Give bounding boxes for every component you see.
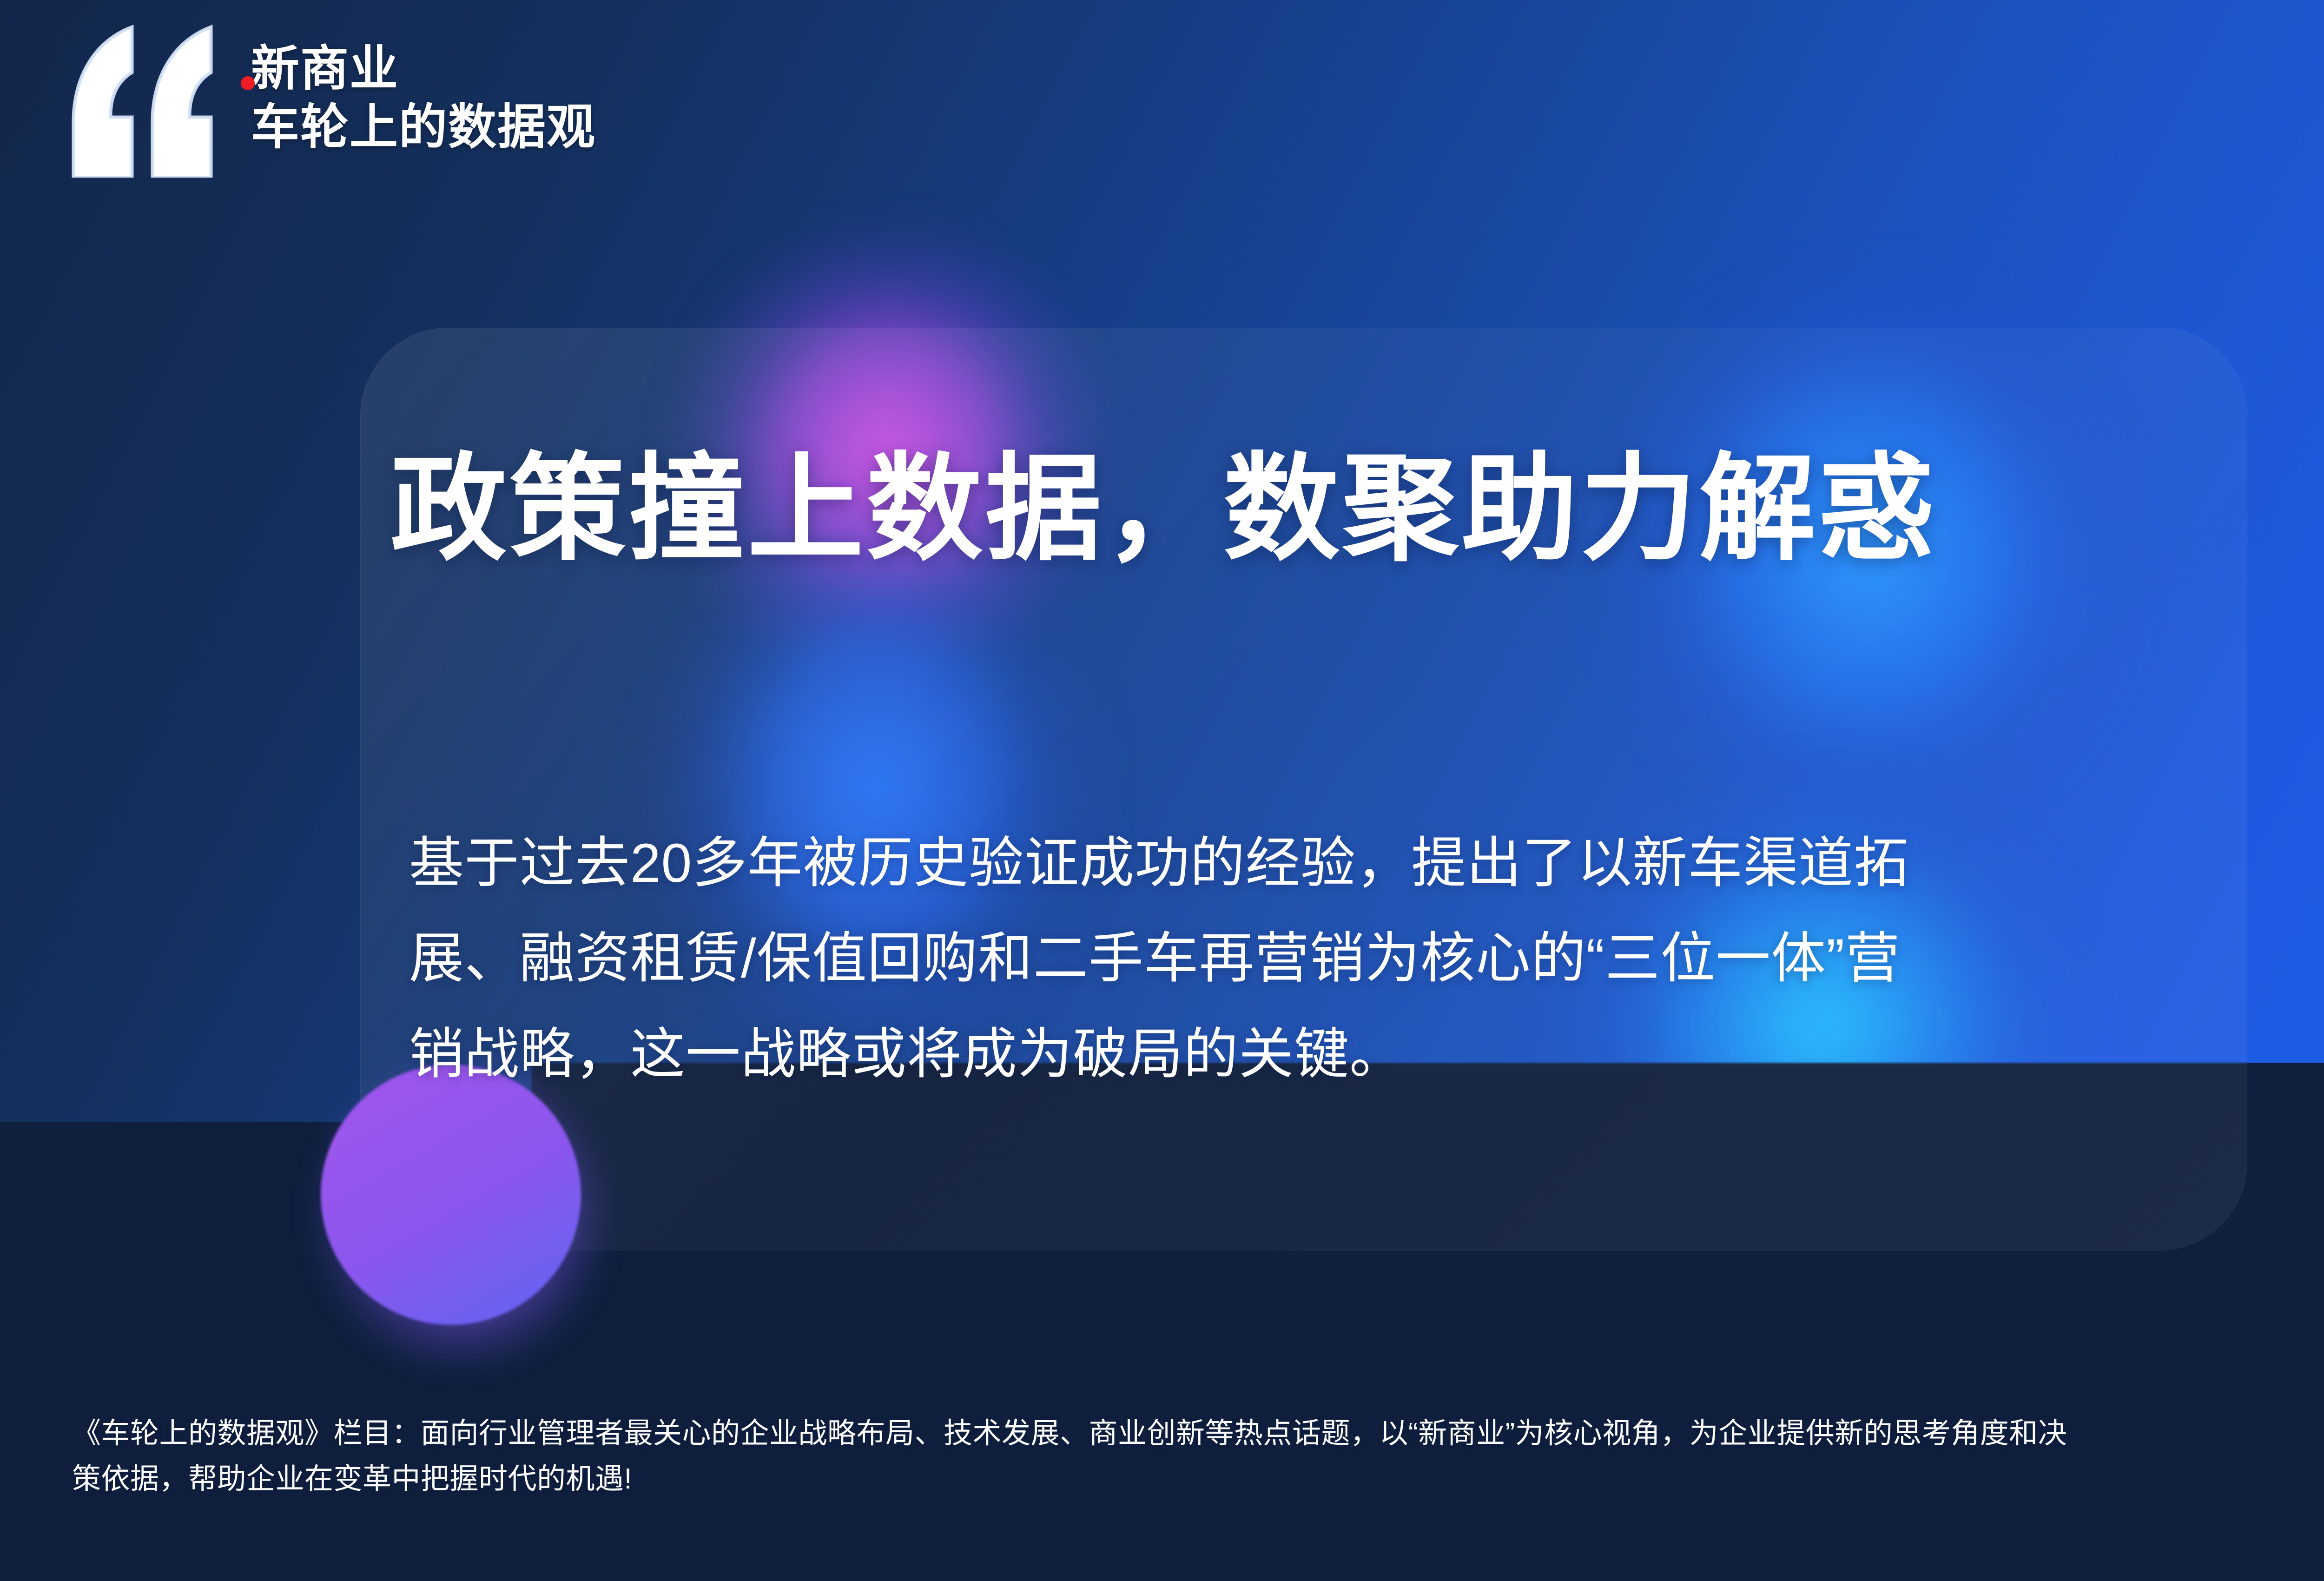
- brand-text: 新商业 车轮上的数据观: [251, 33, 596, 154]
- decorative-violet-circle: [321, 1065, 581, 1325]
- body-paragraph: 基于过去20多年被历史验证成功的经验，提出了以新车渠道拓 展、融资租赁/保值回购…: [409, 816, 2324, 1102]
- footer-line-1: 《车轮上的数据观》栏目：面向行业管理者最关心的企业战略布局、技术发展、商业创新等…: [72, 1411, 2324, 1456]
- brand-line-primary-text: 新商业: [251, 42, 399, 96]
- page-title: 政策撞上数据，数聚助力解惑: [390, 446, 2324, 572]
- slide-canvas: 新商业 车轮上的数据观 政策撞上数据，数聚助力解惑 基于过去20多年被历史验证成…: [0, 0, 2324, 1581]
- brand-line-primary: 新商业: [251, 43, 596, 95]
- footer-description: 《车轮上的数据观》栏目：面向行业管理者最关心的企业战略布局、技术发展、商业创新等…: [72, 1411, 2324, 1502]
- body-line-2: 展、融资租赁/保值回购和二手车再营销为核心的“三位一体”营: [409, 911, 2324, 1006]
- brand-line-secondary: 车轮上的数据观: [251, 101, 596, 153]
- brand-logo: 新商业 车轮上的数据观: [70, 33, 596, 178]
- quotation-mark-icon: [70, 24, 223, 178]
- body-line-1: 基于过去20多年被历史验证成功的经验，提出了以新车渠道拓: [409, 816, 2324, 911]
- footer-line-2: 策依据，帮助企业在变革中把握时代的机遇!: [72, 1456, 2324, 1502]
- body-line-3: 销战略，这一战略或将成为破局的关键。: [409, 1007, 2324, 1102]
